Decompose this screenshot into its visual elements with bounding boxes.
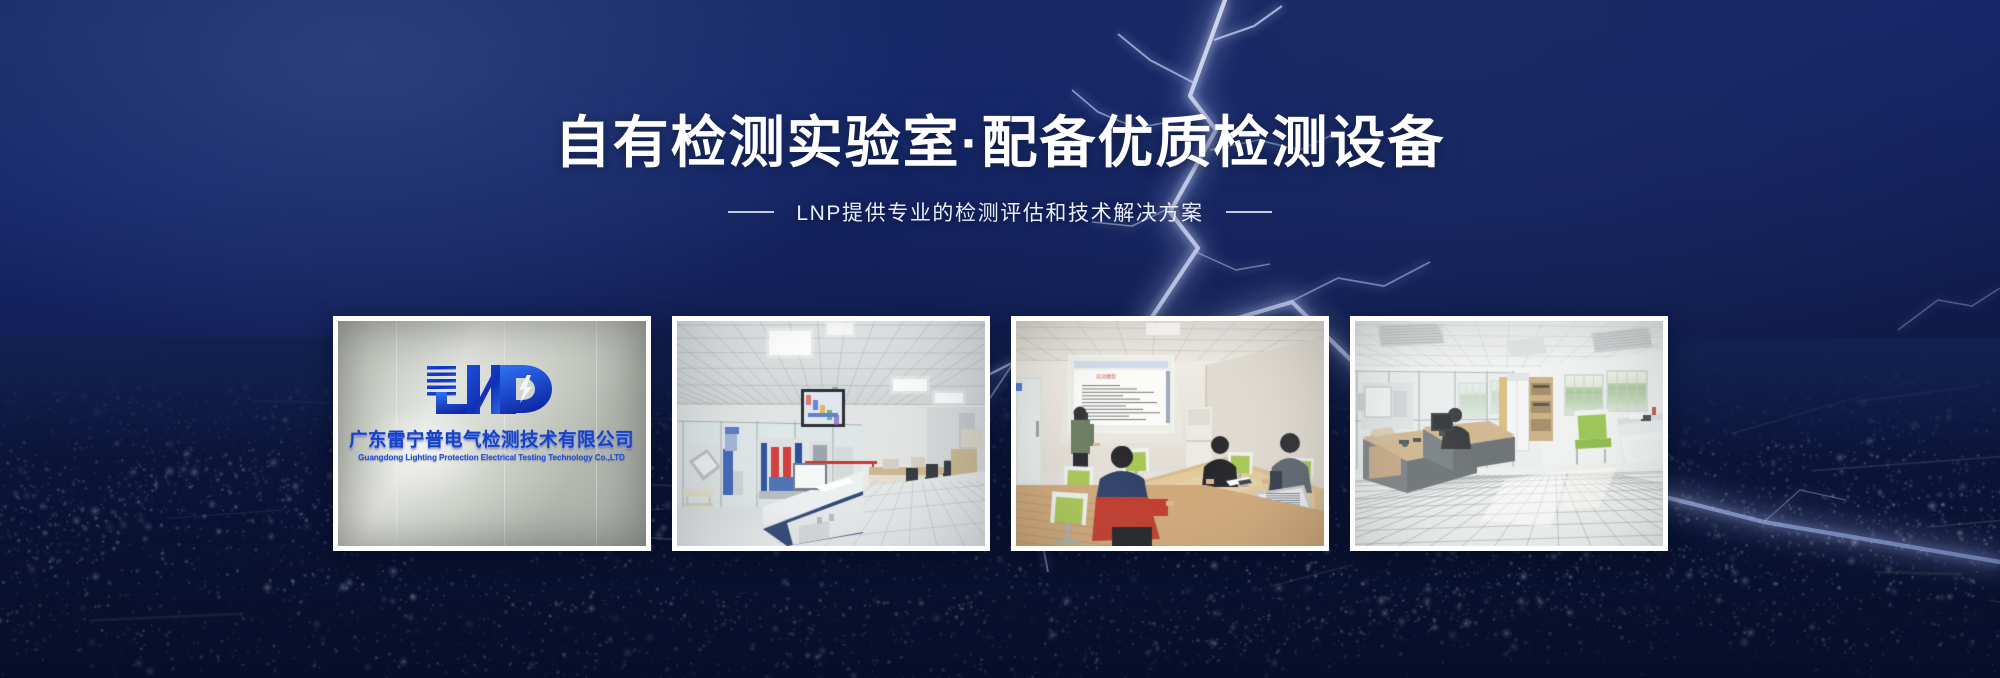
subtitle-row: LNP提供专业的检测评估和技术解决方案 (728, 197, 1271, 227)
photo-company-logo-wall: 广东雷宁普电气检测技术有限公司 Guangdong Lighting Prote… (338, 321, 646, 546)
subtitle-dash-right (1226, 211, 1272, 213)
company-name-cn: 广东雷宁普电气检测技术有限公司 (349, 426, 634, 452)
photo-gallery: 广东雷宁普电气检测技术有限公司 Guangdong Lighting Prote… (0, 316, 2000, 551)
subtitle-dash-left (728, 211, 774, 213)
page-title: 自有检测实验室·配备优质检测设备 (555, 112, 1446, 175)
headline-block: 自有检测实验室·配备优质检测设备 LNP提供专业的检测评估和技术解决方案 (0, 0, 2000, 300)
gallery-card-office[interactable] (1350, 316, 1668, 551)
photo-training-meeting-room (1016, 321, 1324, 546)
gallery-card-meeting-room[interactable] (1011, 316, 1329, 551)
hero-banner: 自有检测实验室·配备优质检测设备 LNP提供专业的检测评估和技术解决方案 (0, 0, 2000, 678)
photo-testing-laboratory (677, 321, 985, 546)
gallery-card-laboratory[interactable] (672, 316, 990, 551)
gallery-card-logo-wall[interactable]: 广东雷宁普电气检测技术有限公司 Guangdong Lighting Prote… (333, 316, 651, 551)
page-subtitle: LNP提供专业的检测评估和技术解决方案 (796, 197, 1203, 227)
company-logo-block: 广东雷宁普电气检测技术有限公司 Guangdong Lighting Prote… (338, 361, 646, 462)
company-name-en: Guangdong Lighting Protection Electrical… (358, 453, 625, 462)
lnp-logo-icon (424, 361, 560, 423)
photo-office-area (1355, 321, 1663, 546)
